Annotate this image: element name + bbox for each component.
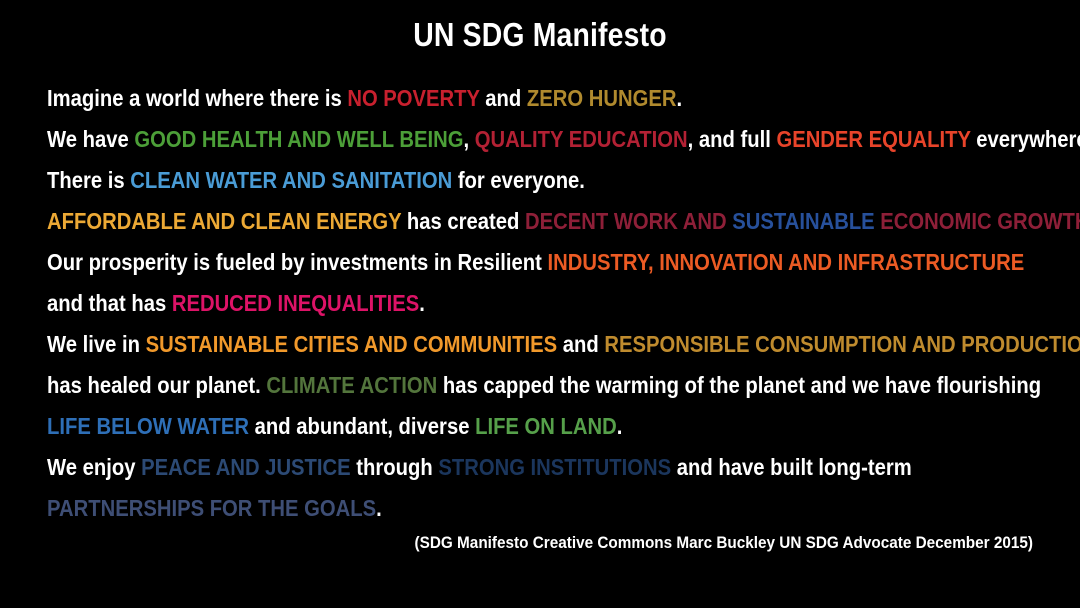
manifesto-line: LIFE BELOW WATER and abundant, diverse L…	[47, 406, 936, 447]
manifesto-body: Imagine a world where there is NO POVERT…	[47, 78, 1057, 529]
manifesto-text-segment: and have built long-term	[671, 454, 912, 480]
manifesto-text-segment: through	[351, 454, 439, 480]
manifesto-text-segment: AFFORDABLE AND CLEAN ENERGY	[47, 208, 401, 234]
manifesto-text-segment: and abundant, diverse	[249, 413, 475, 439]
manifesto-text-segment: LIFE ON LAND	[475, 413, 617, 439]
manifesto-line: and that has REDUCED INEQUALITIES.	[47, 283, 936, 324]
manifesto-text-segment: We enjoy	[47, 454, 141, 480]
manifesto-text-segment: .	[376, 495, 382, 521]
manifesto-slide: UN SDG Manifesto Imagine a world where t…	[0, 0, 1080, 608]
manifesto-text-segment: for everyone.	[452, 167, 585, 193]
attribution-text: (SDG Manifesto Creative Commons Marc Buc…	[103, 533, 1033, 553]
manifesto-line: There is CLEAN WATER AND SANITATION for …	[47, 160, 936, 201]
manifesto-text-segment: GOOD HEALTH AND WELL BEING	[134, 126, 463, 152]
manifesto-line: AFFORDABLE AND CLEAN ENERGY has created …	[47, 201, 936, 242]
manifesto-text-segment: SUSTAINABLE CITIES AND COMMUNITIES	[146, 331, 558, 357]
manifesto-line: has healed our planet. CLIMATE ACTION ha…	[47, 365, 936, 406]
manifesto-line: Our prosperity is fueled by investments …	[47, 242, 936, 283]
manifesto-text-segment: QUALITY EDUCATION	[475, 126, 688, 152]
manifesto-text-segment: LIFE BELOW WATER	[47, 413, 249, 439]
manifesto-text-segment: We live in	[47, 331, 146, 357]
manifesto-text-segment: has healed our planet.	[47, 372, 266, 398]
manifesto-text-segment: INDUSTRY, INNOVATION AND INFRASTRUCTURE	[548, 249, 1025, 275]
manifesto-text-segment: and that has	[47, 290, 172, 316]
manifesto-text-segment: everywhere.	[971, 126, 1080, 152]
manifesto-text-segment: has created	[401, 208, 525, 234]
manifesto-text-segment: Our prosperity is fueled by investments …	[47, 249, 548, 275]
manifesto-text-segment: STRONG INSTITUTIONS	[438, 454, 671, 480]
manifesto-text-segment: RESPONSIBLE CONSUMPTION AND PRODUCTION	[604, 331, 1080, 357]
manifesto-text-segment: ZERO HUNGER	[527, 85, 677, 111]
manifesto-text-segment: DECENT WORK AND	[525, 208, 732, 234]
manifesto-text-segment: .	[676, 85, 682, 111]
manifesto-text-segment: PEACE AND JUSTICE	[141, 454, 351, 480]
manifesto-text-segment: has capped the warming of the planet and…	[437, 372, 1041, 398]
manifesto-text-segment: ECONOMIC GROWTH	[875, 208, 1080, 234]
page-title: UN SDG Manifesto	[76, 16, 1005, 54]
manifesto-text-segment: GENDER EQUALITY	[776, 126, 970, 152]
manifesto-text-segment: .	[617, 413, 623, 439]
manifesto-line: We have GOOD HEALTH AND WELL BEING, QUAL…	[47, 119, 936, 160]
manifesto-text-segment: There is	[47, 167, 130, 193]
manifesto-text-segment: NO POVERTY	[347, 85, 479, 111]
manifesto-text-segment: and	[557, 331, 604, 357]
manifesto-text-segment: PARTNERSHIPS FOR THE GOALS	[47, 495, 376, 521]
manifesto-line: Imagine a world where there is NO POVERT…	[47, 78, 936, 119]
manifesto-line: PARTNERSHIPS FOR THE GOALS.	[47, 488, 936, 529]
manifesto-text-segment: and	[480, 85, 527, 111]
manifesto-text-segment: .	[419, 290, 425, 316]
manifesto-line: We enjoy PEACE AND JUSTICE through STRON…	[47, 447, 936, 488]
manifesto-text-segment: , and full	[688, 126, 777, 152]
manifesto-text-segment: CLIMATE ACTION	[266, 372, 437, 398]
manifesto-text-segment: CLEAN WATER AND SANITATION	[130, 167, 452, 193]
manifesto-text-segment: ,	[463, 126, 474, 152]
manifesto-text-segment: REDUCED INEQUALITIES	[172, 290, 419, 316]
manifesto-text-segment: We have	[47, 126, 134, 152]
manifesto-text-segment: SUSTAINABLE	[732, 208, 874, 234]
manifesto-line: We live in SUSTAINABLE CITIES AND COMMUN…	[47, 324, 936, 365]
manifesto-text-segment: Imagine a world where there is	[47, 85, 347, 111]
